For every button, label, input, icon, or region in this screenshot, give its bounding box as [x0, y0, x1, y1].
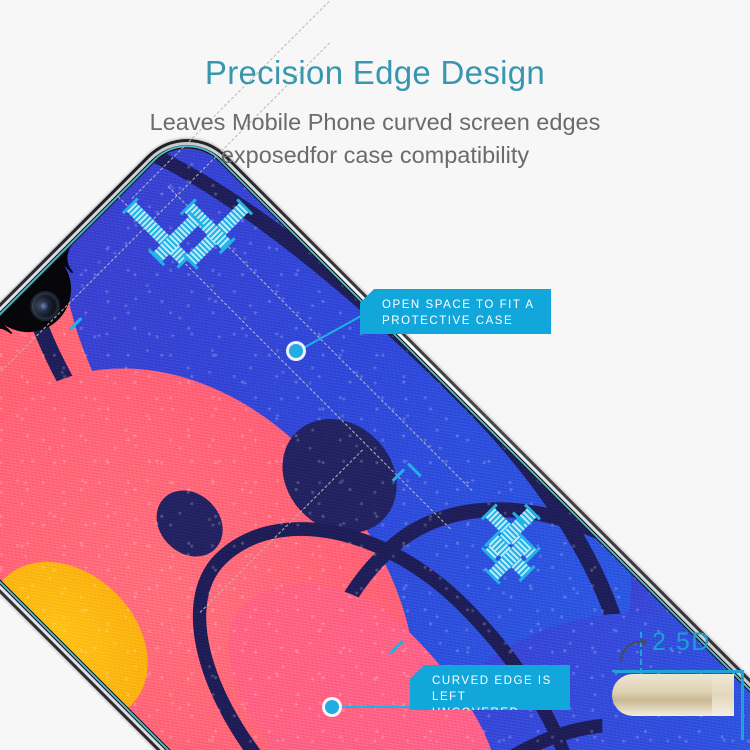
page-title: Precision Edge Design: [0, 56, 750, 91]
callout-1-line-2: PROTECTIVE CASE: [382, 313, 539, 329]
dimension-line-vertical: [741, 670, 744, 740]
product-marketing-image: Precision Edge Design Leaves Mobile Phon…: [0, 0, 750, 750]
heading-block: Precision Edge Design Leaves Mobile Phon…: [0, 0, 750, 172]
page-subtitle: Leaves Mobile Phone curved screen edges …: [0, 106, 750, 173]
callout-2-line-1: CURVED EDGE IS: [432, 673, 558, 689]
glass-edge-profile-right: [712, 674, 734, 716]
camera-lens-dot: [39, 300, 52, 313]
subtitle-line-1: Leaves Mobile Phone curved screen edges: [0, 106, 750, 139]
dimension-guide-dashed-horizontal: [612, 670, 634, 672]
edge-label-2-5d: 2.5D: [652, 628, 711, 657]
front-camera: [27, 288, 64, 325]
edge-thickness-diagram: 2.5D: [612, 614, 750, 750]
subtitle-line-2: exposedfor case compatibility: [0, 139, 750, 172]
curve-arrow-icon: [618, 636, 652, 666]
callout-badge-open-space[interactable]: OPEN SPACE TO FIT A PROTECTIVE CASE: [360, 289, 551, 334]
callout-anchor-dot-2: [325, 700, 339, 714]
callout-anchor-dot-1: [289, 344, 303, 358]
callout-1-line-1: OPEN SPACE TO FIT A: [382, 297, 539, 313]
callout-connector-line-2: [334, 706, 414, 708]
callout-badge-curved-edge[interactable]: CURVED EDGE IS LEFT UNCOVERED: [410, 665, 570, 710]
